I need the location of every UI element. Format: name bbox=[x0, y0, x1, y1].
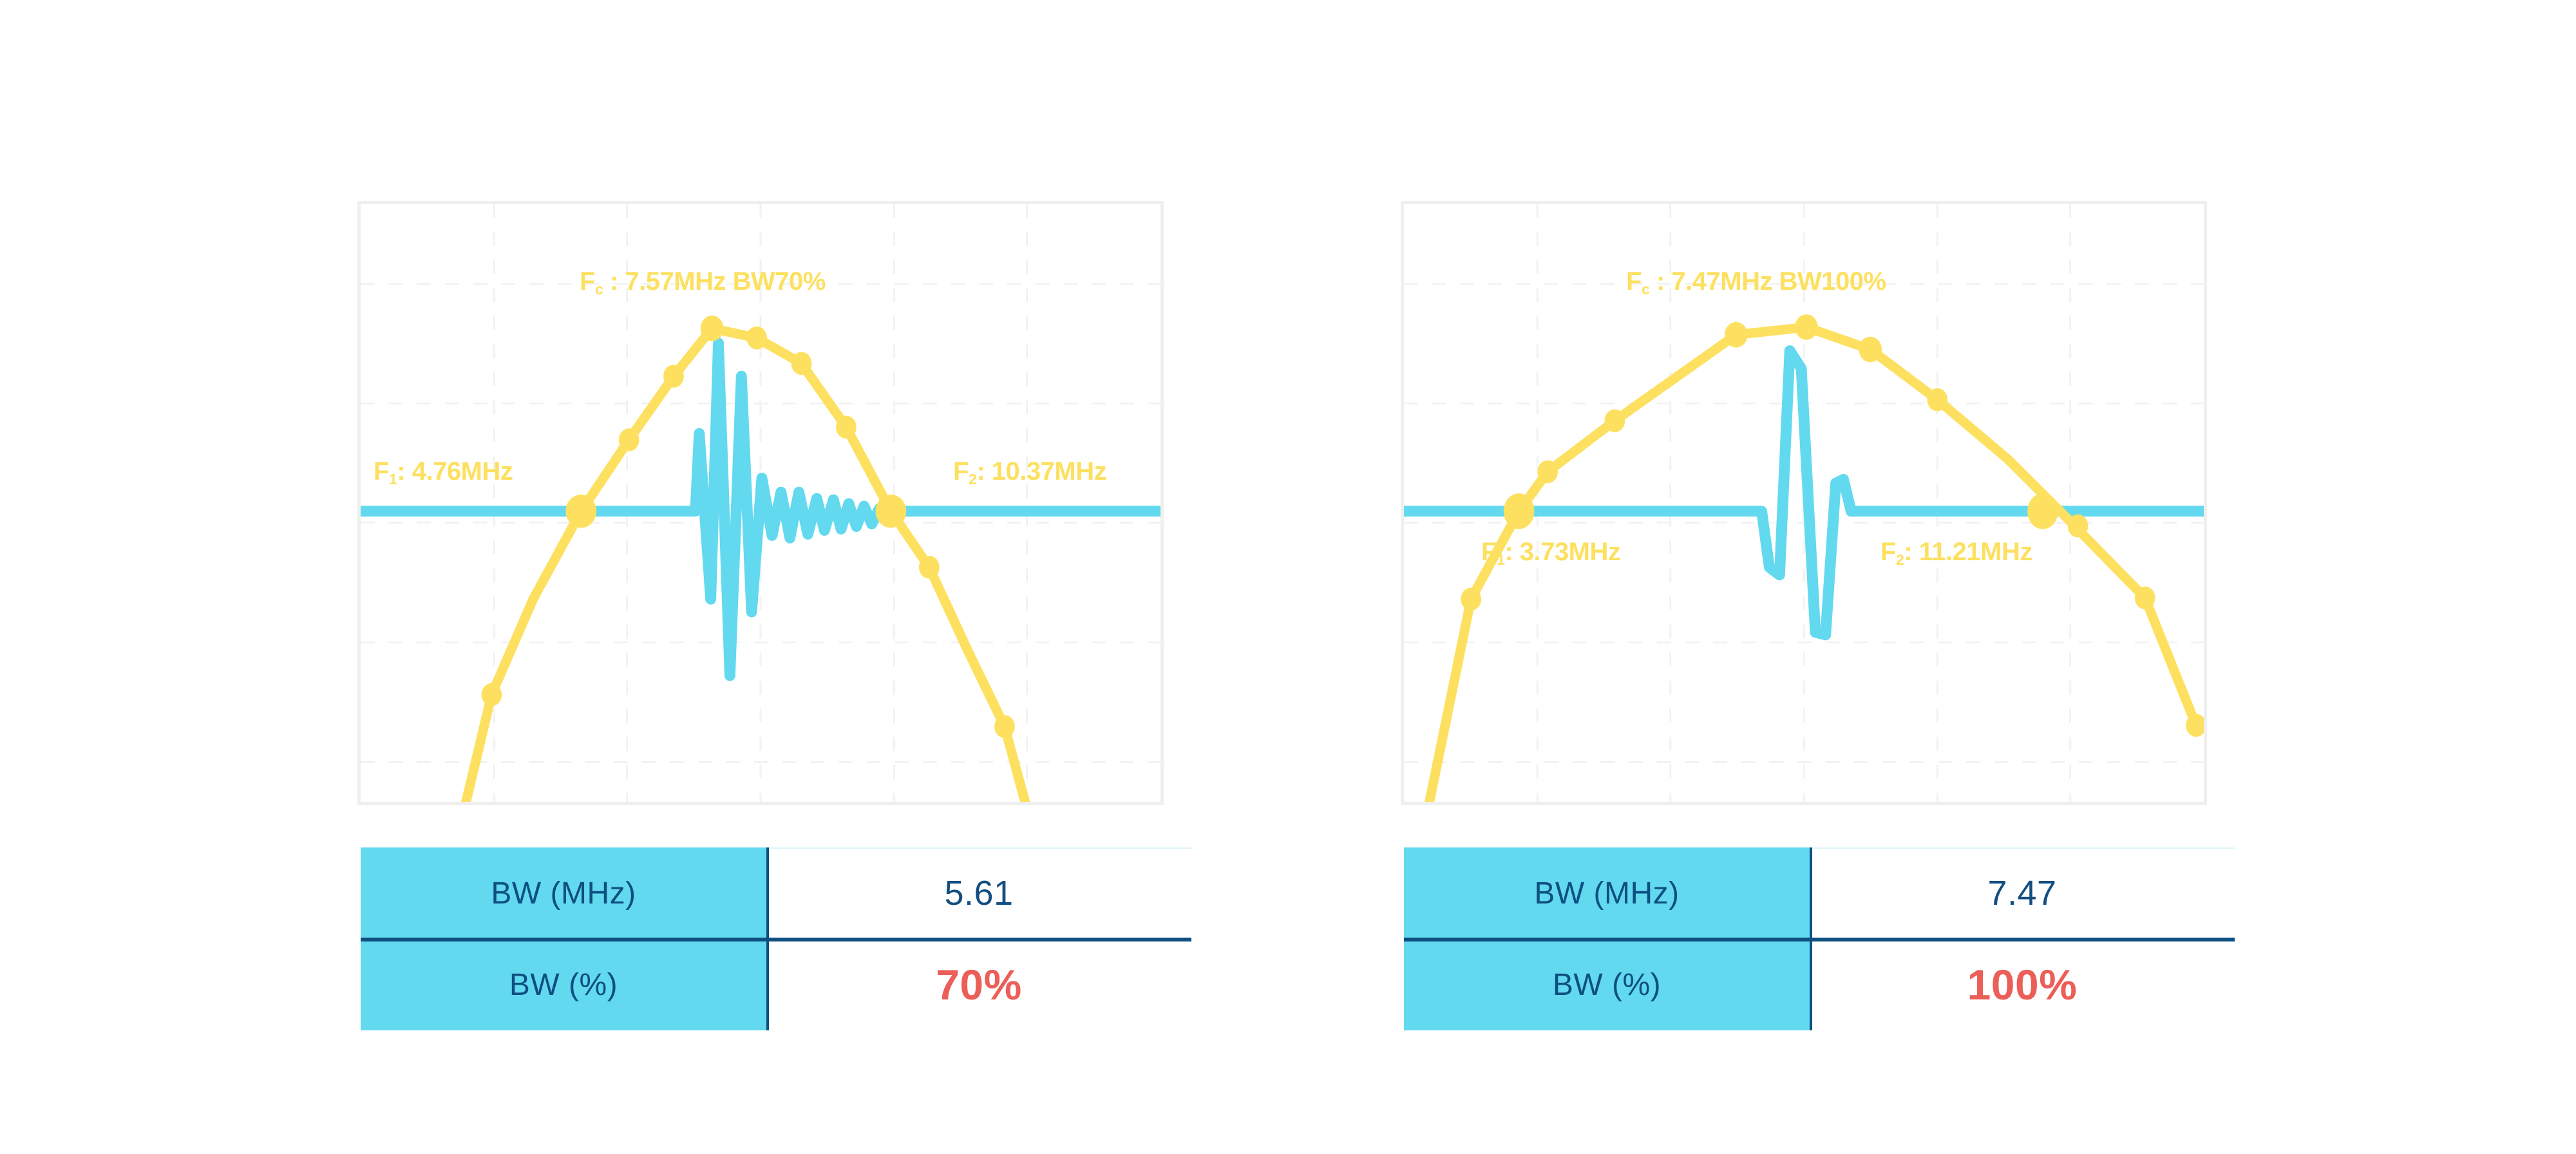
annotation-f2-left-symbol: F bbox=[953, 457, 969, 486]
bw-mhz-value-cell: 5.61 bbox=[766, 847, 1191, 939]
panel-left: Fc : 7.57MHz BW70% F1: 4.76MHz F2: 10.37… bbox=[357, 201, 1164, 805]
annotation-fc-right: Fc : 7.47MHz BW100% bbox=[1626, 269, 1886, 294]
annotation-f1-right-sub: 1 bbox=[1497, 551, 1504, 568]
bw-pct-label: BW (%) bbox=[1553, 967, 1661, 1003]
table-row: BW (MHz) 7.47 bbox=[1404, 847, 2235, 939]
bw-pct-value: 70% bbox=[936, 960, 1022, 1009]
bw-pct-label-cell: BW (%) bbox=[1404, 939, 1810, 1030]
annotation-f2-left: F2: 10.37MHz bbox=[953, 459, 1106, 484]
annotation-f2-right: F2: 11.21MHz bbox=[1880, 539, 2032, 565]
annotation-f1-left-symbol: F bbox=[374, 457, 389, 486]
annotation-fc-right-sub: c bbox=[1642, 281, 1649, 298]
annotation-fc-left-sub: c bbox=[595, 281, 603, 298]
annotation-f1-right-symbol: F bbox=[1481, 538, 1497, 566]
bw-mhz-label-cell: BW (MHz) bbox=[361, 847, 766, 939]
bw-mhz-value: 7.47 bbox=[1987, 873, 2056, 913]
panel-right: Fc : 7.47MHz BW100% F1: 3.73MHz F2: 11.2… bbox=[1401, 201, 2207, 805]
bw-mhz-value: 5.61 bbox=[944, 873, 1013, 913]
bw-table-right: BW (MHz) 7.47 BW (%) 100% bbox=[1404, 847, 2235, 1030]
table-row: BW (%) 70% bbox=[361, 939, 1191, 1030]
bw-mhz-label-cell: BW (MHz) bbox=[1404, 847, 1810, 939]
annotation-f2-right-sub: 2 bbox=[1896, 551, 1904, 568]
annotation-f2-left-sub: 2 bbox=[969, 471, 976, 487]
bw-pct-label-cell: BW (%) bbox=[361, 939, 766, 1030]
table-row: BW (%) 100% bbox=[1404, 939, 2235, 1030]
annotation-f2-left-text: : 10.37MHz bbox=[976, 457, 1106, 486]
annotation-fc-right-symbol: F bbox=[1626, 267, 1642, 296]
annotation-f1-left-sub: 1 bbox=[389, 471, 397, 487]
bw-pct-value-cell: 70% bbox=[766, 939, 1191, 1030]
figure-root: Fc : 7.57MHz BW70% F1: 4.76MHz F2: 10.37… bbox=[0, 0, 2576, 1154]
annotation-f2-right-text: : 11.21MHz bbox=[1904, 538, 2032, 566]
annotation-fc-right-text: : 7.47MHz BW100% bbox=[1649, 267, 1886, 296]
chart-frame-left: Fc : 7.57MHz BW70% F1: 4.76MHz F2: 10.37… bbox=[357, 201, 1164, 805]
bw-pct-label: BW (%) bbox=[509, 967, 618, 1003]
bw-table-left: BW (MHz) 5.61 BW (%) 70% bbox=[361, 847, 1191, 1030]
annotation-f2-right-symbol: F bbox=[1880, 538, 1896, 566]
pulse-waveform-right bbox=[1404, 351, 2204, 635]
bw-mhz-label: BW (MHz) bbox=[491, 876, 636, 911]
chart-frame-right: Fc : 7.47MHz BW100% F1: 3.73MHz F2: 11.2… bbox=[1401, 201, 2207, 805]
annotation-fc-left-symbol: F bbox=[580, 267, 595, 296]
bw-pct-value: 100% bbox=[1967, 960, 2078, 1009]
annotation-f1-right-text: : 3.73MHz bbox=[1504, 538, 1620, 566]
bw-mhz-label: BW (MHz) bbox=[1534, 876, 1679, 911]
annotation-f1-right: F1: 3.73MHz bbox=[1481, 539, 1620, 565]
annotation-fc-left: Fc : 7.57MHz BW70% bbox=[580, 269, 826, 294]
table-row-divider bbox=[1404, 938, 2235, 941]
table-row-divider bbox=[361, 938, 1191, 941]
bw-mhz-value-cell: 7.47 bbox=[1810, 847, 2235, 939]
table-row: BW (MHz) 5.61 bbox=[361, 847, 1191, 939]
bw-pct-value-cell: 100% bbox=[1810, 939, 2235, 1030]
annotation-fc-left-text: : 7.57MHz BW70% bbox=[603, 267, 825, 296]
annotation-f1-left: F1: 4.76MHz bbox=[374, 459, 513, 484]
annotation-f1-left-text: : 4.76MHz bbox=[397, 457, 513, 486]
